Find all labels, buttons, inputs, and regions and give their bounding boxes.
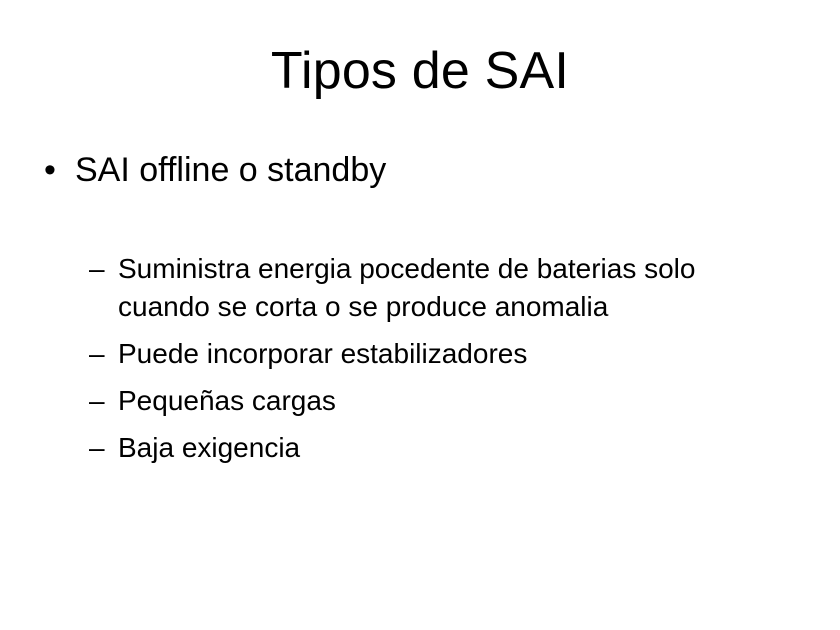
bullet-level2-list: – Suministra energia pocedente de bateri… [0, 250, 840, 467]
slide-title: Tipos de SAI [0, 42, 840, 100]
dash-bullet-icon: – [89, 382, 115, 420]
bullet-level2-item: – Pequeñas cargas [0, 382, 840, 420]
dash-bullet-icon: – [89, 250, 115, 288]
bullet-level2-label: Baja exigencia [118, 429, 745, 467]
bullet-level2-label: Suministra energia pocedente de baterias… [118, 250, 745, 326]
bullet-level2-label: Puede incorporar estabilizadores [118, 335, 745, 373]
dash-bullet-icon: – [89, 335, 115, 373]
bullet-level2-item: – Baja exigencia [0, 429, 840, 467]
presentation-slide: Tipos de SAI • SAI offline o standby – S… [0, 0, 840, 630]
bullet-level1-item: • SAI offline o standby [0, 148, 840, 192]
round-bullet-icon: • [44, 148, 66, 192]
bullet-level1-label: SAI offline o standby [75, 151, 386, 189]
bullet-level2-label: Pequeñas cargas [118, 382, 745, 420]
slide-content-body: • SAI offline o standby – Suministra ene… [0, 148, 840, 476]
bullet-level2-item: – Puede incorporar estabilizadores [0, 335, 840, 373]
bullet-level2-item: – Suministra energia pocedente de bateri… [0, 250, 840, 326]
dash-bullet-icon: – [89, 429, 115, 467]
